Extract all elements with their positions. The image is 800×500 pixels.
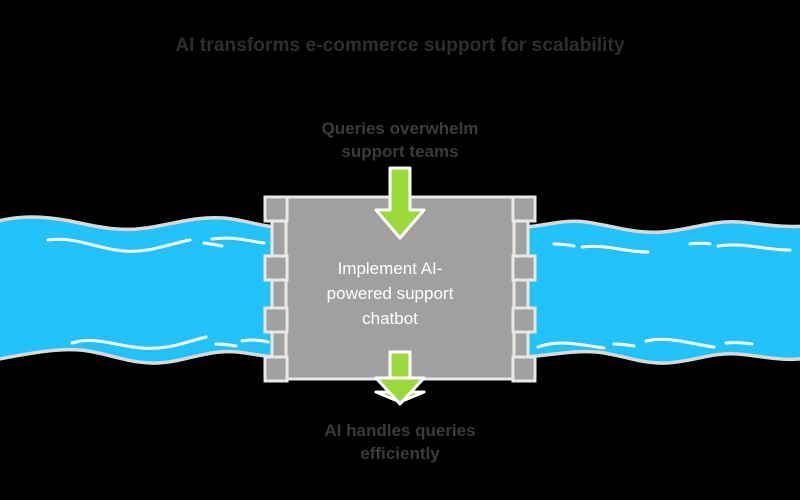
right-water-group (524, 221, 800, 363)
barrier-label-line-1: Implement AI- (288, 256, 492, 281)
inflow-label: Queries overwhelm support teams (240, 117, 560, 163)
diagram-canvas: AI transforms e-commerce support for sca… (0, 0, 800, 500)
inflow-label-line-1: Queries overwhelm (240, 117, 560, 140)
right-water-ripple-8 (726, 343, 752, 344)
barrier-left-bracket-4 (265, 357, 287, 381)
right-water-ripple-3 (690, 243, 710, 244)
inflow-label-line-2: support teams (240, 140, 560, 163)
barrier-left-bracket-2 (265, 256, 287, 280)
barrier-label-line-2: powered support (288, 281, 492, 306)
outflow-label-line-1: AI handles queries (240, 419, 560, 442)
barrier-left-bracket-3 (265, 308, 287, 332)
barrier-right-bracket-4 (513, 357, 535, 381)
left-water-group (0, 217, 276, 363)
barrier-label-line-3: chatbot (288, 306, 492, 331)
barrier-label: Implement AI- powered support chatbot (288, 256, 492, 331)
barrier-right-post (514, 197, 528, 379)
barrier-right-bracket-1 (513, 197, 535, 221)
barrier-right-bracket-2 (513, 256, 535, 280)
barrier-right-bracket-3 (513, 308, 535, 332)
barrier-left-post (272, 197, 286, 379)
barrier-left-bracket-1 (265, 197, 287, 221)
outflow-label: AI handles queries efficiently (240, 419, 560, 465)
outflow-label-line-2: efficiently (240, 442, 560, 465)
page-title: AI transforms e-commerce support for sca… (0, 34, 800, 58)
